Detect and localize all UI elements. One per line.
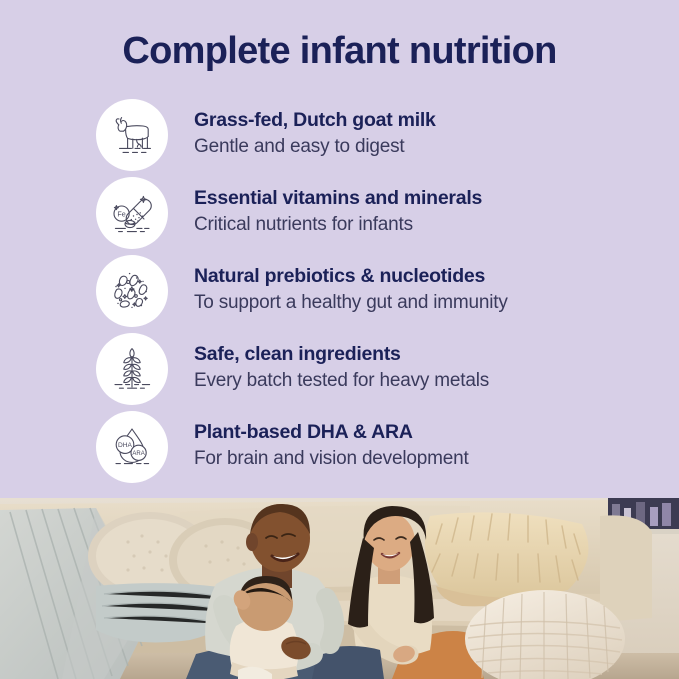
dha-ara-droplet-icon: DHA ARA: [96, 411, 168, 483]
feature-subtext: Critical nutrients for infants: [194, 213, 482, 238]
feature-subtext: For brain and vision development: [194, 447, 469, 472]
lifestyle-photo: [0, 498, 679, 679]
feature-text: Essential vitamins and minerals Critical…: [194, 186, 482, 240]
goat-icon: [96, 99, 168, 171]
product-feature-panel: Complete infant nutrition: [0, 0, 679, 679]
feature-subtext: To support a healthy gut and immunity: [194, 291, 508, 316]
page-title: Complete infant nutrition: [0, 30, 679, 73]
feature-subtext: Gentle and easy to digest: [194, 135, 436, 160]
feature-row-goat-milk: Grass-fed, Dutch goat milk Gentle and ea…: [96, 96, 656, 174]
feature-heading: Natural prebiotics & nucleotides: [194, 264, 508, 288]
feature-text: Plant-based DHA & ARA For brain and visi…: [194, 420, 469, 474]
family-photo-illustration: [0, 498, 679, 679]
feature-list: Grass-fed, Dutch goat milk Gentle and ea…: [96, 96, 656, 486]
feature-row-dha-ara: DHA ARA Plant-based DHA & ARA For brain …: [96, 408, 656, 486]
feature-heading: Plant-based DHA & ARA: [194, 420, 469, 444]
ara-label: ARA: [132, 451, 144, 457]
vitamin-capsule-icon: Fe: [96, 177, 168, 249]
fe-label: Fe: [117, 209, 125, 218]
feature-row-prebiotics-nucleotides: Natural prebiotics & nucleotides To supp…: [96, 252, 656, 330]
dha-label: DHA: [118, 442, 133, 449]
baby-figure: [230, 576, 299, 679]
feature-row-safe-ingredients: Safe, clean ingredients Every batch test…: [96, 330, 656, 408]
feature-text: Natural prebiotics & nucleotides To supp…: [194, 264, 508, 318]
feature-subtext: Every batch tested for heavy metals: [194, 369, 489, 394]
feature-heading: Grass-fed, Dutch goat milk: [194, 108, 436, 132]
feature-text: Grass-fed, Dutch goat milk Gentle and ea…: [194, 108, 436, 162]
wheat-stalk-icon: [96, 333, 168, 405]
features-panel: Complete infant nutrition: [0, 0, 679, 498]
feature-heading: Safe, clean ingredients: [194, 342, 489, 366]
feature-row-vitamins-minerals: Fe Essential vitamins and minerals: [96, 174, 656, 252]
feature-text: Safe, clean ingredients Every batch test…: [194, 342, 489, 396]
probiotic-bacteria-icon: [96, 255, 168, 327]
feature-heading: Essential vitamins and minerals: [194, 186, 482, 210]
